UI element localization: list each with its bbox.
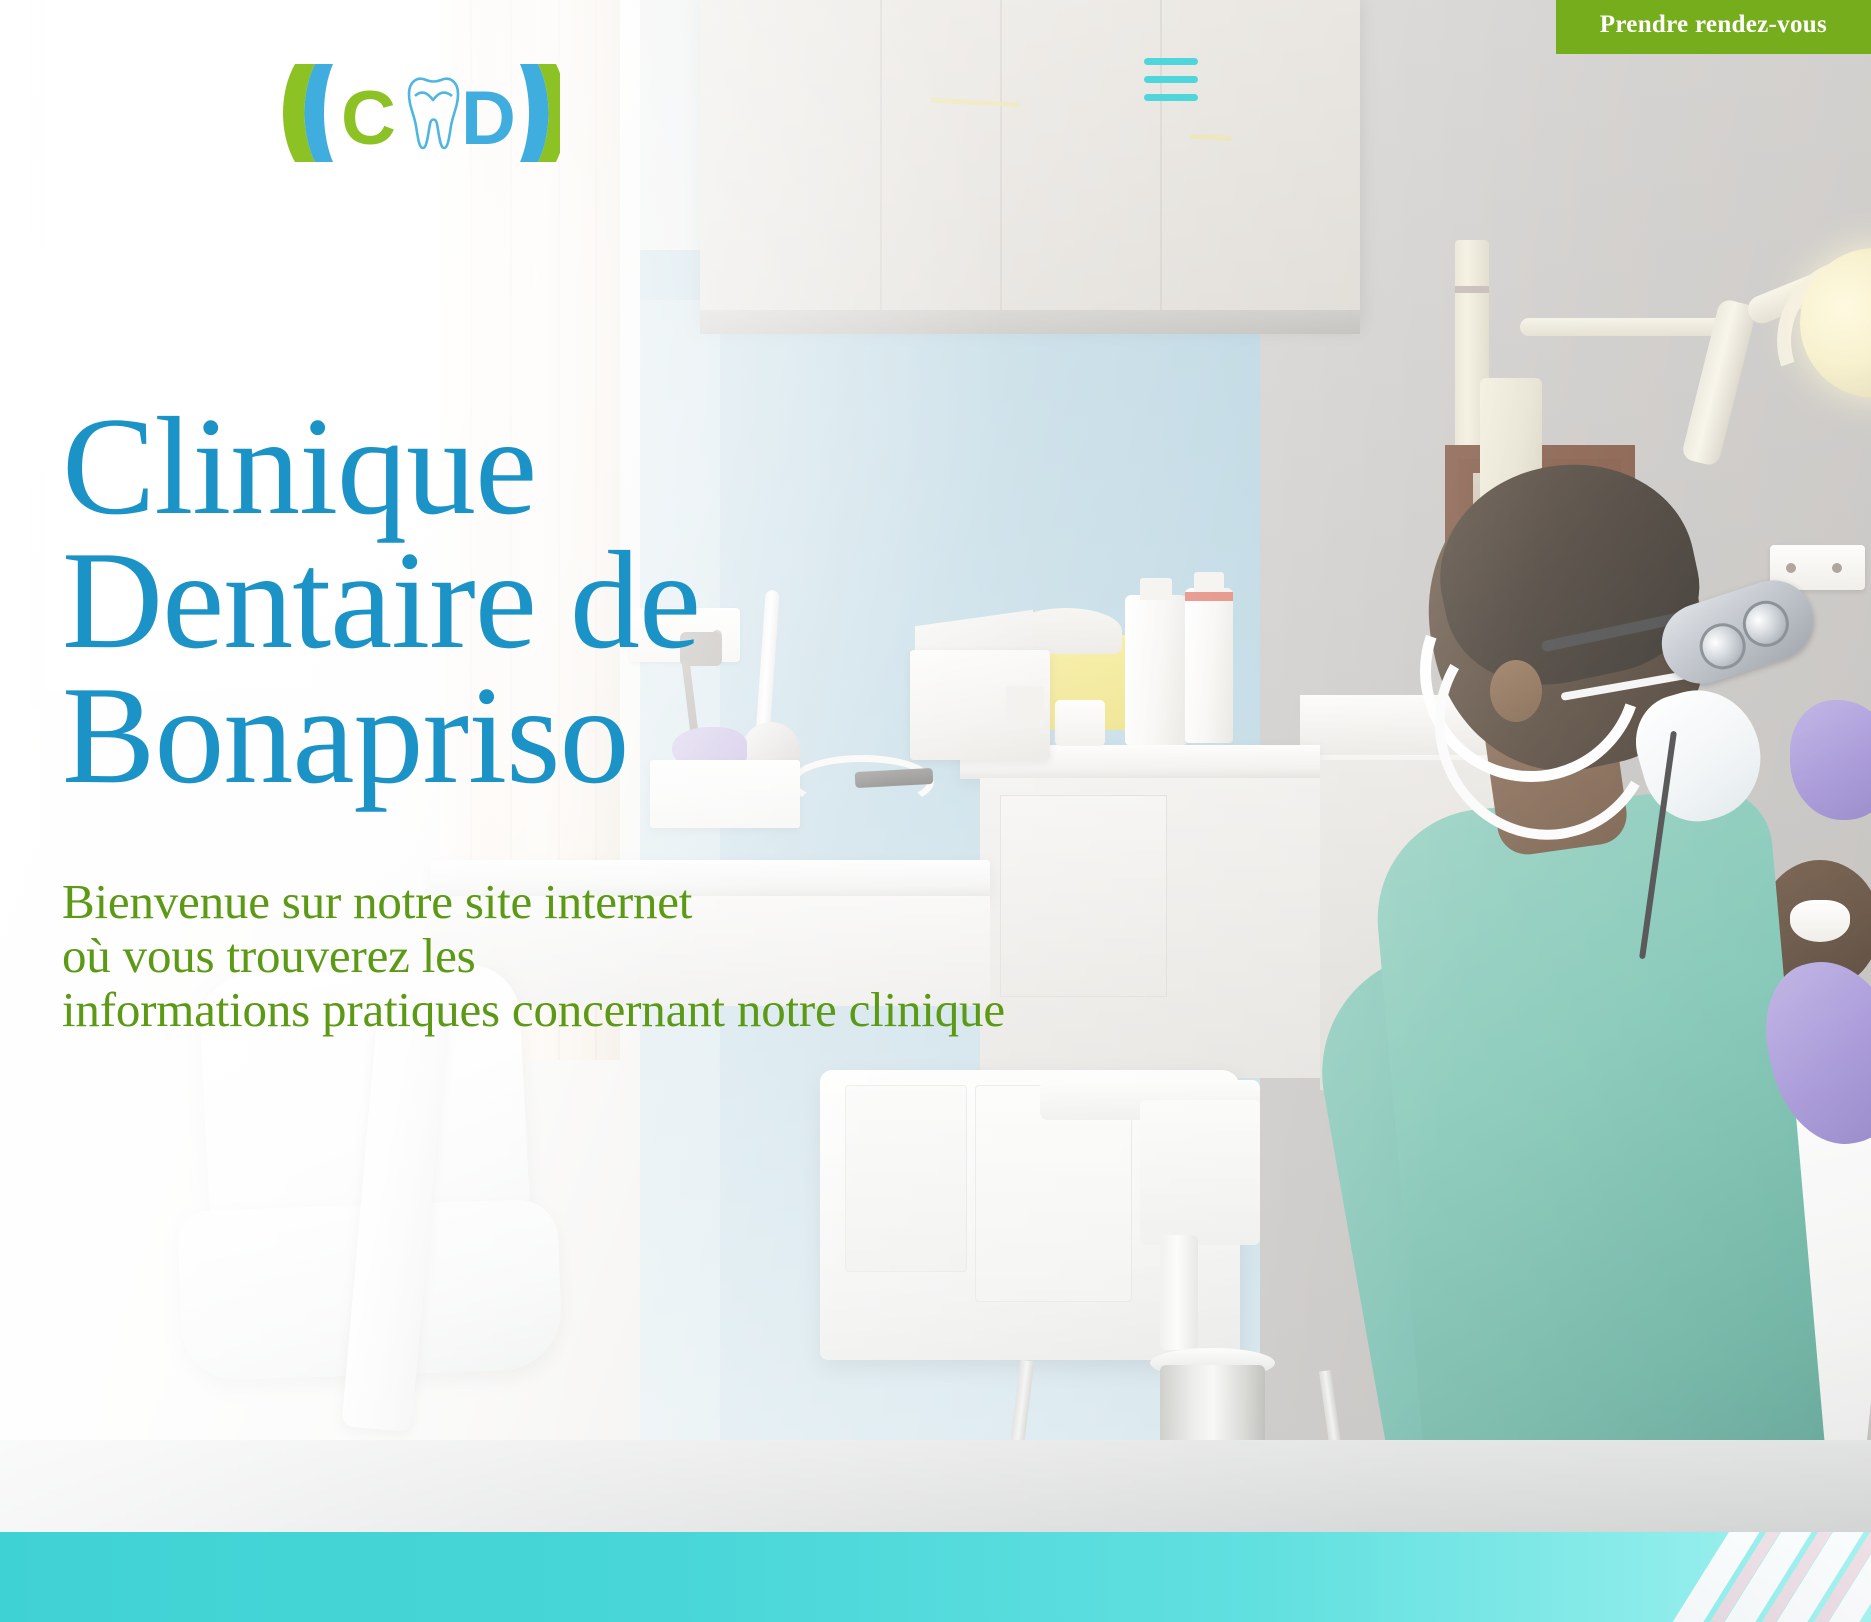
delivery-unit-neck [1160, 1235, 1198, 1350]
tooth-icon [409, 79, 458, 148]
hero-subtitle: Bienvenue sur notre site internet où vou… [62, 875, 1512, 1037]
landing-page: Prendre rendez-vous C D Clinique Dentair [0, 0, 1871, 1622]
menu-bar-top [1144, 58, 1198, 65]
hero-content: Clinique Dentaire de Bonapriso Bienvenue… [62, 400, 1512, 1037]
logo-letter-d: D [461, 76, 516, 161]
delivery-unit-tray [1140, 1100, 1260, 1245]
upper-cabinet [700, 0, 1360, 320]
menu-bar-middle [1144, 76, 1198, 83]
prendre-rendez-vous-button[interactable]: Prendre rendez-vous [1556, 0, 1871, 54]
logo-svg: C D [275, 58, 560, 168]
xray-column-band [1455, 286, 1489, 293]
bottom-accent-band [0, 1532, 1871, 1622]
delivery-unit-panel-left [845, 1085, 967, 1272]
clinic-logo[interactable]: C D [275, 58, 560, 168]
logo-letter-c: C [341, 76, 396, 161]
hamburger-menu-icon[interactable] [1144, 56, 1198, 106]
floor [0, 1440, 1871, 1540]
page-title: Clinique Dentaire de Bonapriso [62, 400, 822, 803]
menu-bar-bottom [1144, 94, 1198, 101]
patient-mouth [1790, 900, 1850, 942]
cabinet-underside [700, 310, 1360, 334]
